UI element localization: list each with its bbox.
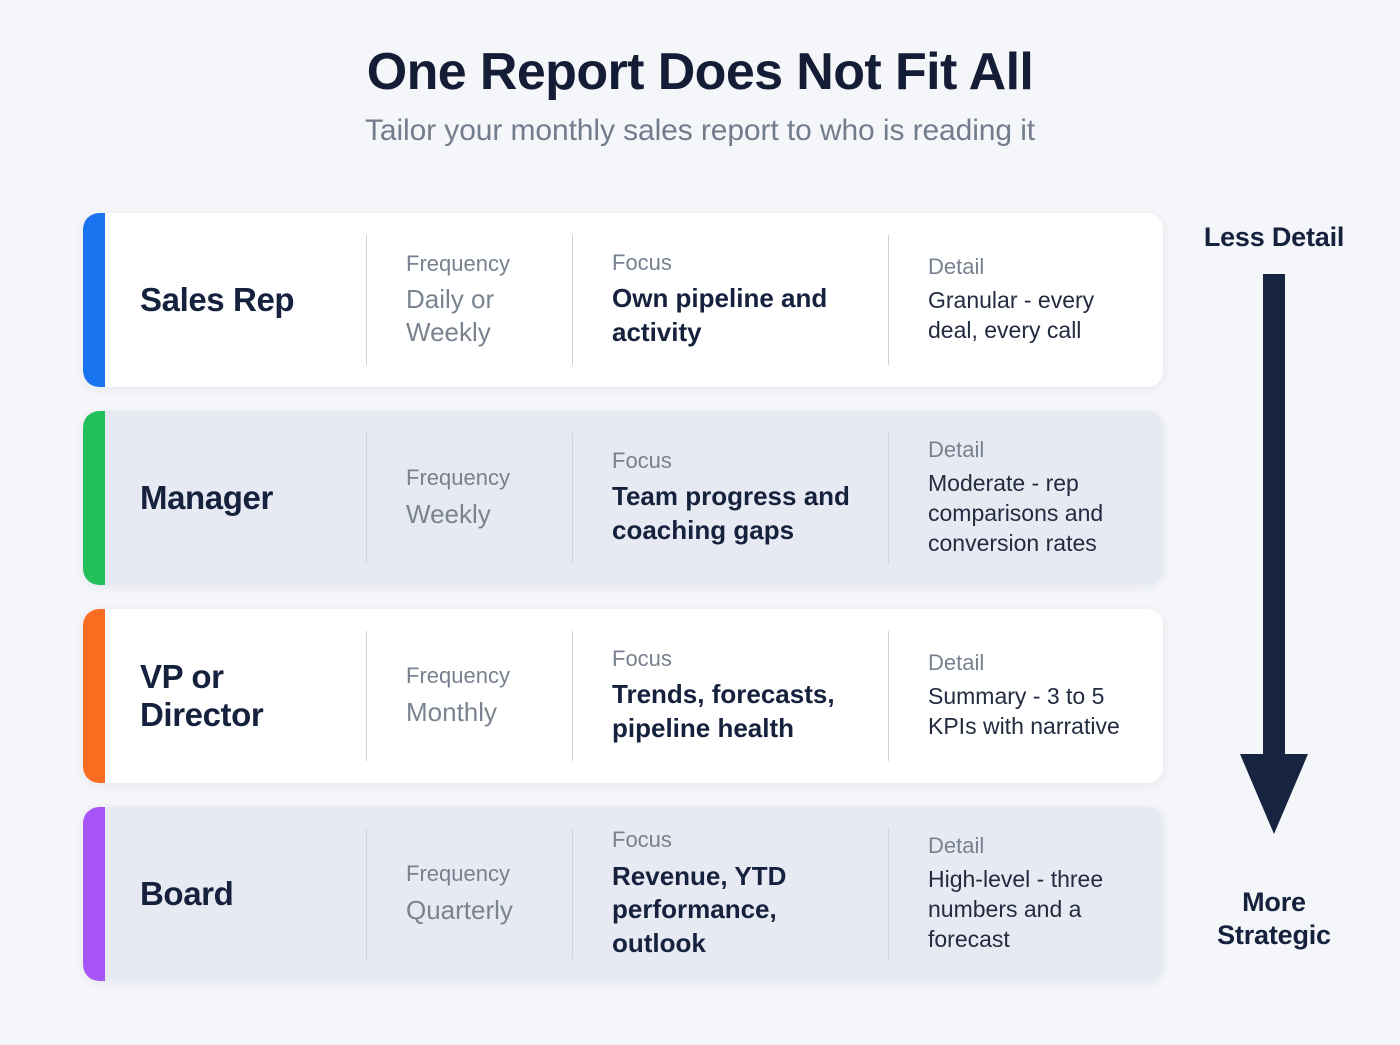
header: One Report Does Not Fit All Tailor your …: [0, 0, 1400, 148]
detail-value: Granular - every deal, every call: [928, 285, 1149, 346]
frequency-value: Daily or Weekly: [406, 283, 558, 350]
table-row[interactable]: Board Frequency Quarterly Focus Revenue,…: [83, 807, 1163, 981]
focus-value: Revenue, YTD performance, outlook: [612, 860, 874, 961]
focus-cell: Focus Revenue, YTD performance, outlook: [572, 807, 888, 981]
audience-rows: Sales Rep Frequency Daily or Weekly Focu…: [83, 213, 1163, 981]
focus-value: Team progress and coaching gaps: [612, 480, 874, 548]
frequency-cell: Frequency Weekly: [366, 411, 572, 585]
frequency-cell: Frequency Quarterly: [366, 807, 572, 981]
frequency-value: Weekly: [406, 498, 558, 531]
focus-label: Focus: [612, 448, 874, 474]
frequency-cell: Frequency Daily or Weekly: [366, 213, 572, 387]
detail-cell: Detail Granular - every deal, every call: [888, 213, 1163, 387]
detail-label: Detail: [928, 833, 1149, 859]
focus-value: Trends, forecasts, pipeline health: [612, 678, 874, 746]
role-name: Manager: [140, 479, 352, 517]
role-name: VP or Director: [140, 658, 352, 733]
table-row[interactable]: Sales Rep Frequency Daily or Weekly Focu…: [83, 213, 1163, 387]
focus-value: Own pipeline and activity: [612, 282, 874, 350]
detail-value: High-level - three numbers and a forecas…: [928, 864, 1149, 955]
row-accent-bar: [83, 609, 105, 783]
axis-bottom-caption: More Strategic: [1195, 886, 1353, 952]
detail-label: Detail: [928, 650, 1149, 676]
row-accent-bar: [83, 807, 105, 981]
frequency-label: Frequency: [406, 251, 558, 277]
row-accent-bar: [83, 213, 105, 387]
detail-label: Detail: [928, 437, 1149, 463]
detail-cell: Detail Moderate - rep comparisons and co…: [888, 411, 1163, 585]
focus-label: Focus: [612, 646, 874, 672]
detail-cell: Detail Summary - 3 to 5 KPIs with narrat…: [888, 609, 1163, 783]
table-row[interactable]: VP or Director Frequency Monthly Focus T…: [83, 609, 1163, 783]
frequency-label: Frequency: [406, 861, 558, 887]
down-arrow-icon: [1238, 274, 1310, 864]
focus-cell: Focus Own pipeline and activity: [572, 213, 888, 387]
role-cell: Sales Rep: [83, 281, 366, 319]
main-layout: Sales Rep Frequency Daily or Weekly Focu…: [83, 213, 1353, 981]
frequency-label: Frequency: [406, 663, 558, 689]
axis-top-caption: Less Detail: [1204, 221, 1344, 254]
role-name: Board: [140, 875, 352, 913]
detail-value: Summary - 3 to 5 KPIs with narrative: [928, 681, 1149, 742]
page-subtitle: Tailor your monthly sales report to who …: [0, 114, 1400, 148]
role-cell: Manager: [83, 479, 366, 517]
detail-axis: Less Detail More Strategic: [1195, 213, 1353, 981]
role-name: Sales Rep: [140, 281, 352, 319]
focus-label: Focus: [612, 250, 874, 276]
page-title: One Report Does Not Fit All: [0, 44, 1400, 100]
row-accent-bar: [83, 411, 105, 585]
focus-label: Focus: [612, 827, 874, 853]
role-cell: VP or Director: [83, 658, 366, 733]
frequency-value: Quarterly: [406, 894, 558, 927]
detail-value: Moderate - rep comparisons and conversio…: [928, 468, 1149, 559]
detail-cell: Detail High-level - three numbers and a …: [888, 807, 1163, 981]
role-cell: Board: [83, 875, 366, 913]
focus-cell: Focus Team progress and coaching gaps: [572, 411, 888, 585]
table-row[interactable]: Manager Frequency Weekly Focus Team prog…: [83, 411, 1163, 585]
frequency-value: Monthly: [406, 696, 558, 729]
detail-label: Detail: [928, 254, 1149, 280]
focus-cell: Focus Trends, forecasts, pipeline health: [572, 609, 888, 783]
frequency-cell: Frequency Monthly: [366, 609, 572, 783]
frequency-label: Frequency: [406, 465, 558, 491]
